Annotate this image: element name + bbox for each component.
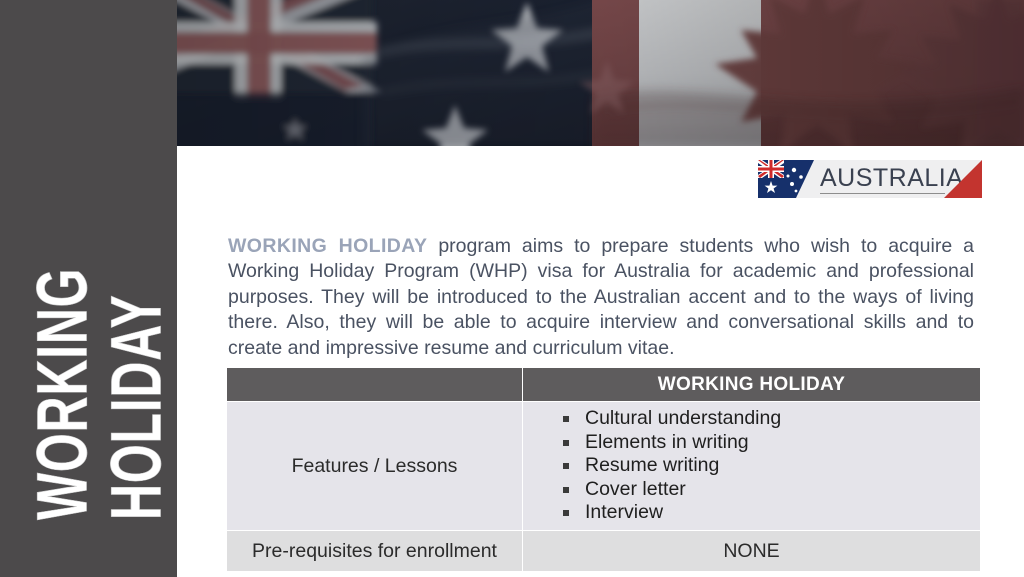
square-bullet-icon <box>563 463 569 469</box>
list-item-label: Interview <box>585 501 663 523</box>
table-header: WORKING HOLIDAY <box>227 368 981 402</box>
list-item: Cover letter <box>563 478 980 502</box>
features-bullet-list: Cultural understanding Elements in writi… <box>523 407 980 525</box>
square-bullet-icon <box>563 510 569 516</box>
list-item: Elements in writing <box>563 431 980 455</box>
table-body: Features / Lessons Cultural understandin… <box>227 402 981 572</box>
features-row-label: Features / Lessons <box>227 402 523 531</box>
sidebar: WORKING HOLIDAY <box>0 0 177 577</box>
features-row-content: Cultural understanding Elements in writi… <box>523 402 981 531</box>
sidebar-title-line-1: WORKING <box>26 268 98 520</box>
sidebar-vertical-title: WORKING HOLIDAY <box>0 0 177 577</box>
list-item-label: Cultural understanding <box>585 407 781 429</box>
prerequisites-row-label: Pre-requisites for enrollment <box>227 531 523 572</box>
table-row: Pre-requisites for enrollment NONE <box>227 531 981 572</box>
list-item-label: Resume writing <box>585 454 719 476</box>
header-banner-image <box>177 0 1024 146</box>
list-item: Resume writing <box>563 454 980 478</box>
intro-paragraph: WORKING HOLIDAY program aims to prepare … <box>228 234 974 362</box>
flags-photo-svg <box>177 0 1024 146</box>
list-item: Cultural understanding <box>563 407 980 431</box>
sidebar-title-line-2: HOLIDAY <box>100 294 172 520</box>
course-details-table: WORKING HOLIDAY Features / Lessons Cultu… <box>226 367 981 572</box>
australia-logo-bar: AUSTRALIA <box>758 160 982 198</box>
australia-flag-icon <box>758 160 814 198</box>
intro-paragraph-lead: WORKING HOLIDAY <box>228 235 427 257</box>
table-header-cell-blank <box>227 368 523 402</box>
prerequisites-row-value: NONE <box>523 531 981 572</box>
australia-flag-icon-svg <box>758 160 814 198</box>
australia-logo-label: AUSTRALIA <box>820 163 963 193</box>
table-row: Features / Lessons Cultural understandin… <box>227 402 981 531</box>
square-bullet-icon <box>563 487 569 493</box>
list-item-label: Cover letter <box>585 478 686 500</box>
square-bullet-icon <box>563 416 569 422</box>
australia-logo-underline <box>820 193 945 194</box>
table-header-cell-program: WORKING HOLIDAY <box>523 368 981 402</box>
table-header-row: WORKING HOLIDAY <box>227 368 981 402</box>
list-item: Interview <box>563 501 980 525</box>
list-item-label: Elements in writing <box>585 431 749 453</box>
slide: WORKING HOLIDAY <box>0 0 1024 577</box>
square-bullet-icon <box>563 440 569 446</box>
